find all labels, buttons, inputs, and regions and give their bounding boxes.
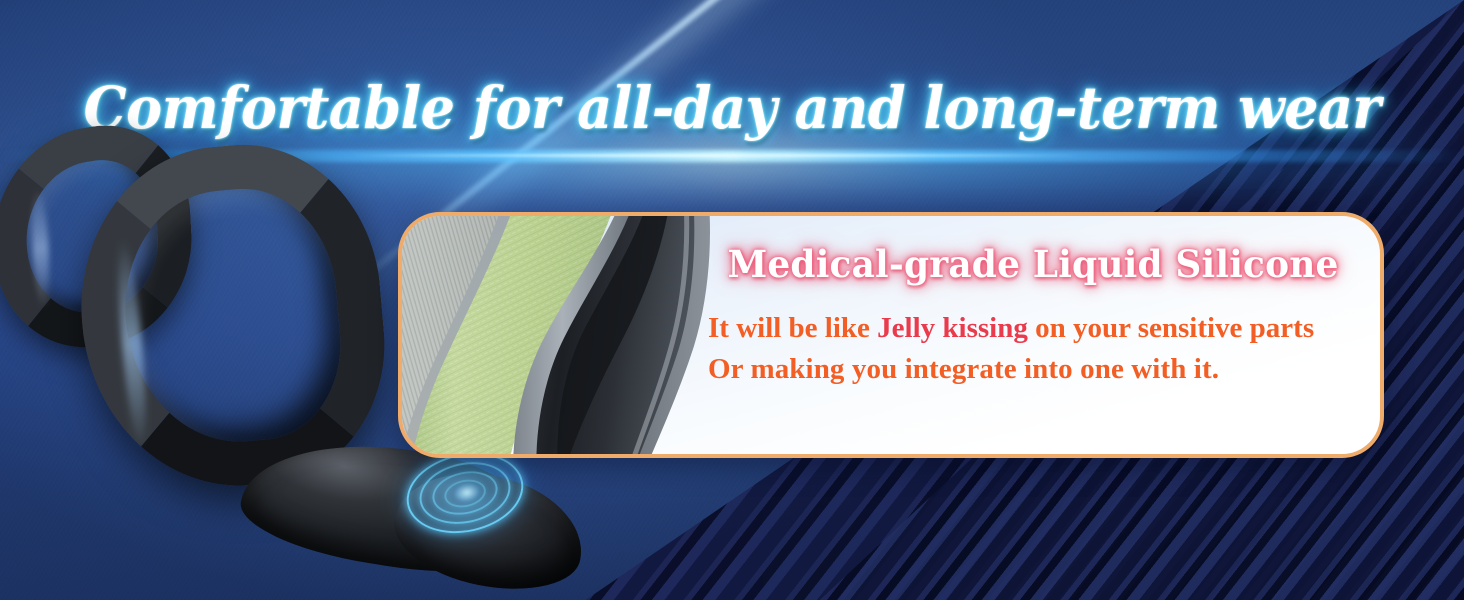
- line1-prefix: It will be like: [708, 312, 877, 344]
- material-info-card: Medical-grade Liquid Silicone It will be…: [398, 212, 1384, 458]
- material-layers-illustration: [398, 212, 744, 458]
- card-description: It will be like Jelly kissing on your se…: [702, 308, 1364, 390]
- card-description-line-1: It will be like Jelly kissing on your se…: [708, 308, 1364, 349]
- card-text-column: Medical-grade Liquid Silicone It will be…: [702, 242, 1364, 390]
- product-banner: Comfortable for all-day and long-term we…: [0, 0, 1464, 600]
- line1-suffix: on your sensitive parts: [1028, 312, 1314, 344]
- card-description-line-2: Or making you integrate into one with it…: [708, 349, 1364, 390]
- line1-accent: Jelly kissing: [877, 312, 1028, 344]
- card-title: Medical-grade Liquid Silicone: [712, 242, 1354, 286]
